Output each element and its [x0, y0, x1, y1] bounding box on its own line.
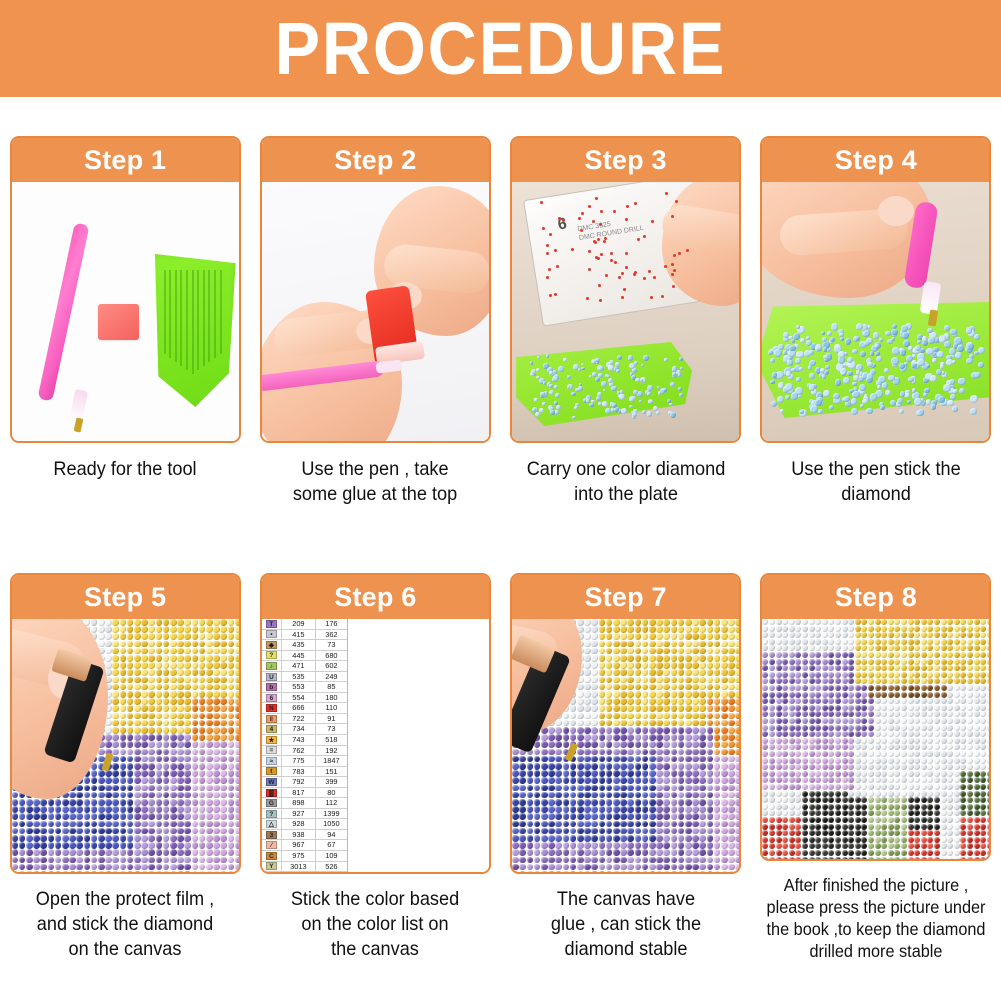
mosaic-diamond: [163, 727, 170, 734]
mosaic-diamond: [199, 806, 206, 813]
mosaic-diamond: [782, 705, 788, 711]
mosaic-diamond: [987, 771, 990, 777]
mosaic-diamond: [228, 799, 235, 806]
mosaic-diamond: [947, 751, 953, 757]
mosaic-diamond: [974, 692, 980, 698]
mosaic-diamond: [848, 777, 854, 783]
mosaic-diamond: [199, 749, 206, 756]
mosaic-diamond: [156, 698, 163, 705]
mosaic-diamond: [584, 633, 591, 640]
mosaic-diamond: [728, 734, 735, 741]
mosaic-diamond: [613, 871, 620, 872]
mosaic-diamond: [555, 806, 562, 813]
mosaic-diamond: [941, 632, 947, 638]
mosaic-diamond: [577, 785, 584, 792]
wax-square-icon: [98, 304, 139, 340]
mosaic-diamond: [112, 864, 119, 871]
mosaic-diamond: [914, 639, 920, 645]
mosaic-diamond: [112, 648, 119, 655]
mosaic-diamond: [141, 741, 148, 748]
mosaic-diamond: [235, 792, 239, 799]
mosaic-diamond: [98, 813, 105, 820]
mosaic-diamond: [591, 677, 598, 684]
mosaic-diamond: [835, 705, 841, 711]
mosaic-diamond: [815, 817, 821, 823]
mosaic-diamond: [635, 691, 642, 698]
mosaic-diamond: [769, 659, 775, 665]
mosaic-diamond: [828, 725, 834, 731]
mosaic-diamond: [941, 758, 947, 764]
mosaic-diamond: [199, 871, 206, 872]
mosaic-diamond: [98, 821, 105, 828]
mosaic-diamond: [815, 824, 821, 830]
mosaic-diamond: [842, 784, 848, 790]
mosaic-diamond: [134, 849, 141, 856]
mosaic-diamond: [127, 698, 134, 705]
mosaic-diamond: [782, 791, 788, 797]
mosaic-diamond: [170, 705, 177, 712]
mosaic-diamond: [671, 749, 678, 756]
mosaic-diamond: [591, 749, 598, 756]
mosaic-diamond: [163, 799, 170, 806]
mosaic-diamond: [692, 828, 699, 835]
mosaic-diamond: [894, 751, 900, 757]
mosaic-diamond: [170, 806, 177, 813]
mosaic-diamond: [235, 626, 239, 633]
mosaic-diamond: [163, 662, 170, 669]
mosaic-diamond: [828, 705, 834, 711]
mosaic-diamond: [642, 864, 649, 871]
mosaic-diamond: [642, 734, 649, 741]
diamond-bead: [605, 408, 611, 414]
mosaic-diamond: [141, 713, 148, 720]
mosaic-diamond: [861, 784, 867, 790]
mosaic-diamond: [148, 864, 155, 871]
mosaic-diamond: [861, 751, 867, 757]
mosaic-diamond: [570, 792, 577, 799]
mosaic-diamond: [663, 857, 670, 864]
mosaic-diamond: [91, 871, 98, 872]
mosaic-diamond: [875, 764, 881, 770]
mosaic-diamond: [934, 810, 940, 816]
mosaic-diamond: [802, 797, 808, 803]
step-card-2[interactable]: Step 2: [260, 136, 491, 443]
diamond-bead: [670, 412, 676, 418]
mosaic-diamond: [678, 727, 685, 734]
mosaic-diamond: [782, 744, 788, 750]
mosaic-diamond: [170, 655, 177, 662]
mosaic-diamond: [127, 741, 134, 748]
mosaic-diamond: [782, 626, 788, 632]
mosaic-diamond: [156, 806, 163, 813]
mosaic-diamond: [620, 763, 627, 770]
diamond-bead: [555, 393, 560, 398]
diamond-bead: [952, 406, 957, 411]
bag-print-dot: [604, 237, 607, 240]
mosaic-diamond: [98, 770, 105, 777]
mosaic-diamond: [881, 817, 887, 823]
mosaic-diamond: [671, 835, 678, 842]
mosaic-diamond: [714, 849, 721, 856]
mosaic-diamond: [735, 842, 739, 849]
mosaic-diamond: [235, 871, 239, 872]
mosaic-diamond: [656, 857, 663, 864]
mosaic-diamond: [728, 633, 735, 640]
mosaic-diamond: [809, 791, 815, 797]
diamond-bead: [806, 340, 812, 346]
mosaic-diamond: [19, 813, 26, 820]
mosaic-diamond: [156, 641, 163, 648]
mosaic-diamond: [627, 842, 634, 849]
mosaic-diamond: [848, 784, 854, 790]
mosaic-diamond: [685, 813, 692, 820]
mosaic-diamond: [527, 792, 534, 799]
mosaic-diamond: [105, 727, 112, 734]
mosaic-diamond: [776, 711, 782, 717]
mosaic-diamond: [170, 691, 177, 698]
mosaic-diamond: [591, 792, 598, 799]
mosaic-diamond: [828, 810, 834, 816]
pour-diamonds-photo: 6 DMC 3325 DMC ROUND DRILL: [512, 182, 739, 441]
mosaic-diamond: [908, 639, 914, 645]
mosaic-diamond: [960, 764, 966, 770]
mosaic-diamond: [714, 835, 721, 842]
mosaic-diamond: [974, 791, 980, 797]
mosaic-diamond: [163, 871, 170, 872]
step-card-5[interactable]: Step 5: [10, 573, 241, 874]
mosaic-diamond: [721, 777, 728, 784]
mosaic-diamond: [141, 705, 148, 712]
mosaic-diamond: [835, 645, 841, 651]
mosaic-diamond: [707, 641, 714, 648]
mosaic-diamond: [776, 797, 782, 803]
mosaic-diamond: [584, 662, 591, 669]
mosaic-diamond: [570, 713, 577, 720]
mosaic-diamond: [192, 633, 199, 640]
mosaic-diamond: [105, 734, 112, 741]
mosaic-diamond: [927, 804, 933, 810]
mosaic-diamond: [613, 626, 620, 633]
mosaic-diamond: [769, 619, 775, 625]
tools-photo: [12, 182, 239, 441]
mosaic-diamond: [199, 619, 206, 626]
mosaic-diamond: [213, 734, 220, 741]
mosaic-diamond: [627, 705, 634, 712]
diamond-bead: [809, 384, 816, 391]
mosaic-diamond: [835, 817, 841, 823]
mosaic-diamond: [76, 799, 83, 806]
diamond-bead: [917, 340, 921, 344]
mosaic-diamond: [802, 810, 808, 816]
mosaic-diamond: [828, 817, 834, 823]
mosaic-diamond: [48, 806, 55, 813]
mosaic-diamond: [33, 849, 40, 856]
bag-print-dot: [651, 220, 654, 223]
mosaic-diamond: [141, 842, 148, 849]
mosaic-diamond: [848, 797, 854, 803]
mosaic-diamond: [671, 828, 678, 835]
mosaic-diamond: [163, 813, 170, 820]
mosaic-diamond: [685, 806, 692, 813]
step-card-7[interactable]: Step 7: [510, 573, 741, 874]
mosaic-diamond: [235, 770, 239, 777]
diamond-bead: [917, 359, 925, 367]
mosaic-diamond: [606, 741, 613, 748]
mosaic-diamond: [855, 652, 861, 658]
mosaic-diamond: [987, 711, 990, 717]
mosaic-diamond: [881, 698, 887, 704]
mosaic-diamond: [855, 665, 861, 671]
mosaic-diamond: [627, 741, 634, 748]
mosaic-diamond: [782, 685, 788, 691]
mosaic-diamond: [954, 645, 960, 651]
diamond-quantity: 602: [316, 661, 347, 671]
mosaic-diamond: [656, 813, 663, 820]
mosaic-diamond: [184, 734, 191, 741]
mosaic-diamond: [914, 804, 920, 810]
mosaic-diamond: [12, 792, 19, 799]
mosaic-diamond: [584, 691, 591, 698]
diamond-bead: [578, 386, 583, 391]
mosaic-diamond: [815, 705, 821, 711]
mosaic-diamond: [934, 698, 940, 704]
mosaic-diamond: [776, 738, 782, 744]
mosaic-diamond: [649, 763, 656, 770]
mosaic-diamond: [835, 659, 841, 665]
mosaic-diamond: [548, 792, 555, 799]
mosaic-diamond: [842, 830, 848, 836]
mosaic-diamond: [868, 672, 874, 678]
mosaic-diamond: [914, 738, 920, 744]
diamond-bead: [914, 398, 922, 406]
mosaic-diamond: [570, 777, 577, 784]
mosaic-diamond: [802, 672, 808, 678]
mosaic-diamond: [620, 734, 627, 741]
diamond-quantity: 151: [316, 767, 347, 777]
mosaic-diamond: [541, 849, 548, 856]
mosaic-diamond: [591, 864, 598, 871]
mosaic-diamond: [656, 785, 663, 792]
mosaic-diamond: [156, 727, 163, 734]
mosaic-diamond: [156, 655, 163, 662]
mosaic-diamond: [170, 677, 177, 684]
mosaic-diamond: [105, 821, 112, 828]
mosaic-diamond: [627, 619, 634, 626]
mosaic-diamond: [156, 777, 163, 784]
mosaic-diamond: [901, 791, 907, 797]
mosaic-diamond: [613, 684, 620, 691]
mosaic-diamond: [649, 777, 656, 784]
mosaic-diamond: [782, 725, 788, 731]
mosaic-diamond: [19, 806, 26, 813]
mosaic-diamond: [855, 678, 861, 684]
mosaic-diamond: [699, 741, 706, 748]
mosaic-diamond: [835, 725, 841, 731]
mosaic-diamond: [184, 763, 191, 770]
diamond-bead: [608, 365, 614, 371]
mosaic-diamond: [776, 652, 782, 658]
mosaic-diamond: [815, 804, 821, 810]
mosaic-diamond: [235, 813, 239, 820]
mosaic-diamond: [855, 725, 861, 731]
mosaic-diamond: [762, 678, 768, 684]
mosaic-diamond: [980, 711, 986, 717]
mosaic-diamond: [954, 672, 960, 678]
mosaic-diamond: [620, 813, 627, 820]
mosaic-diamond: [822, 797, 828, 803]
mosaic-diamond: [685, 792, 692, 799]
mosaic-diamond: [789, 652, 795, 658]
mosaic-diamond: [84, 813, 91, 820]
mosaic-diamond: [678, 799, 685, 806]
mosaic-diamond: [782, 810, 788, 816]
mosaic-diamond: [141, 849, 148, 856]
mosaic-diamond: [762, 751, 768, 757]
mosaic-diamond: [835, 711, 841, 717]
step-card-1[interactable]: Step 1: [10, 136, 241, 443]
mosaic-diamond: [692, 835, 699, 842]
mosaic-diamond: [570, 770, 577, 777]
mosaic-diamond: [714, 648, 721, 655]
mosaic-diamond: [855, 804, 861, 810]
mosaic-diamond: [941, 718, 947, 724]
mosaic-diamond: [842, 645, 848, 651]
mosaic-diamond: [127, 835, 134, 842]
mosaic-diamond: [954, 725, 960, 731]
mosaic-diamond: [960, 830, 966, 836]
mosaic-diamond: [685, 857, 692, 864]
mosaic-diamond: [134, 749, 141, 756]
mosaic-diamond: [901, 764, 907, 770]
mosaic-diamond: [48, 849, 55, 856]
mosaic-diamond: [635, 684, 642, 691]
mosaic-diamond: [599, 741, 606, 748]
mosaic-diamond: [134, 770, 141, 777]
mosaic-diamond: [789, 626, 795, 632]
mosaic-diamond: [235, 655, 239, 662]
mosaic-diamond: [835, 784, 841, 790]
mosaic-diamond: [19, 849, 26, 856]
mosaic-diamond: [591, 799, 598, 806]
mosaic-diamond: [728, 857, 735, 864]
mosaic-diamond: [163, 835, 170, 842]
mosaic-diamond: [563, 734, 570, 741]
mosaic-diamond: [656, 828, 663, 835]
mosaic-diamond: [685, 821, 692, 828]
mosaic-diamond: [563, 871, 570, 872]
diamond-bead: [957, 345, 963, 351]
mosaic-diamond: [620, 669, 627, 676]
mosaic-diamond: [627, 749, 634, 756]
mosaic-diamond: [177, 633, 184, 640]
mosaic-diamond: [954, 665, 960, 671]
mosaic-diamond: [987, 632, 990, 638]
mosaic-diamond: [199, 785, 206, 792]
mosaic-diamond: [822, 764, 828, 770]
mosaic-diamond: [235, 842, 239, 849]
mosaic-diamond: [967, 645, 973, 651]
mosaic-diamond: [974, 824, 980, 830]
mosaic-diamond: [656, 799, 663, 806]
mosaic-diamond: [663, 835, 670, 842]
mosaic-diamond: [881, 665, 887, 671]
mosaic-diamond: [728, 777, 735, 784]
mosaic-diamond: [213, 864, 220, 871]
mosaic-diamond: [735, 785, 739, 792]
mosaic-diamond: [620, 828, 627, 835]
step-card-4[interactable]: Step 4: [760, 136, 991, 443]
mosaic-diamond: [714, 655, 721, 662]
mosaic-diamond: [627, 662, 634, 669]
mosaic-diamond: [199, 655, 206, 662]
step-card-3[interactable]: Step 3 6 DMC 3325 DMC ROUND DRILL: [510, 136, 741, 443]
mosaic-diamond: [199, 842, 206, 849]
step-card-6[interactable]: Step 6 T209176▪415362◆43573?445680♪47160…: [260, 573, 491, 874]
diamond-bead: [823, 355, 827, 359]
mosaic-diamond: [584, 777, 591, 784]
mosaic-diamond: [642, 821, 649, 828]
mosaic-diamond: [199, 763, 206, 770]
mosaic-diamond: [707, 806, 714, 813]
diamond-bead: [556, 405, 560, 409]
mosaic-diamond: [921, 777, 927, 783]
mosaic-diamond: [894, 817, 900, 823]
mosaic-diamond: [921, 705, 927, 711]
mosaic-diamond: [921, 698, 927, 704]
mosaic-diamond: [842, 725, 848, 731]
mosaic-diamond: [527, 835, 534, 842]
mosaic-diamond: [678, 669, 685, 676]
mosaic-diamond: [927, 645, 933, 651]
mosaic-diamond: [868, 738, 874, 744]
mosaic-diamond: [868, 711, 874, 717]
mosaic-diamond: [908, 824, 914, 830]
mosaic-diamond: [974, 725, 980, 731]
mosaic-diamond: [815, 685, 821, 691]
mosaic-diamond: [671, 691, 678, 698]
mosaic-diamond: [795, 817, 801, 823]
step-7-header: Step 7: [512, 575, 739, 619]
mosaic-diamond: [105, 777, 112, 784]
mosaic-diamond: [48, 871, 55, 872]
mosaic-diamond: [112, 799, 119, 806]
mosaic-diamond: [980, 652, 986, 658]
mosaic-diamond: [584, 792, 591, 799]
mosaic-diamond: [584, 770, 591, 777]
mosaic-diamond: [512, 756, 519, 763]
mosaic-diamond: [678, 749, 685, 756]
mosaic-diamond: [177, 756, 184, 763]
color-symbol-swatch: ≈: [262, 756, 282, 766]
mosaic-diamond: [627, 648, 634, 655]
diamond-bead: [572, 416, 575, 419]
mosaic-diamond: [782, 771, 788, 777]
mosaic-diamond: [156, 713, 163, 720]
mosaic-diamond: [606, 857, 613, 864]
mosaic-diamond: [894, 725, 900, 731]
mosaic-diamond: [728, 619, 735, 626]
mosaic-diamond: [105, 633, 112, 640]
step-card-8[interactable]: Step 8: [760, 573, 991, 861]
color-symbol-swatch: ♪: [262, 661, 282, 671]
mosaic-diamond: [156, 813, 163, 820]
mosaic-diamond: [881, 652, 887, 658]
color-symbol-swatch: ▓: [262, 788, 282, 798]
mosaic-diamond: [776, 784, 782, 790]
mosaic-diamond: [642, 813, 649, 820]
mosaic-diamond: [627, 641, 634, 648]
mosaic-diamond: [908, 804, 914, 810]
